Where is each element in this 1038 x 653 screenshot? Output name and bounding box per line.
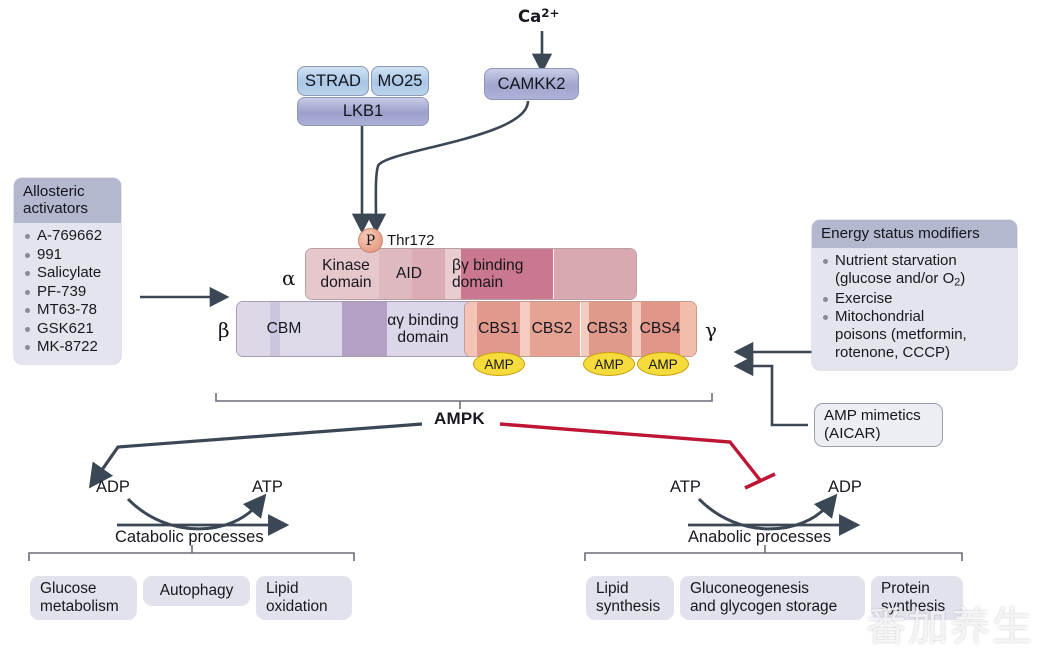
catabolic-caption: Catabolic processes (115, 528, 264, 547)
list-item[interactable]: MT63-78 (23, 301, 113, 319)
phospho-group-icon[interactable]: P (358, 228, 383, 253)
inhibit-bar-anabolic (745, 474, 775, 488)
allosteric-list: A-769662 991 Salicylate PF-739 MT63-78 G… (23, 227, 113, 356)
box-lipid-oxidation[interactable]: Lipid oxidation (256, 576, 352, 620)
arrow-ampk-inhibits-anabolic (500, 424, 760, 480)
bracket-anabolic-outputs (585, 553, 962, 561)
list-item[interactable]: Mitochondrial poisons (metformin, roteno… (821, 308, 1009, 362)
mo25-label: MO25 (378, 72, 423, 91)
list-item[interactable]: MK-8722 (23, 338, 113, 356)
anabolic-atp-label: ATP (670, 478, 701, 497)
panel-allosteric-body: A-769662 991 Salicylate PF-739 MT63-78 G… (14, 223, 121, 364)
panel-energy-status-modifiers[interactable]: Energy status modifiers Nutrient starvat… (812, 220, 1017, 370)
energy-list: Nutrient starvation (glucose and/or O2) … (821, 252, 1009, 362)
box-amp-mimetics[interactable]: AMP mimetics (AICAR) (814, 403, 943, 447)
calcium-charge: 2+ (541, 6, 559, 20)
list-item[interactable]: GSK621 (23, 320, 113, 338)
beta-subunit-label: β (218, 318, 230, 342)
alpha-subunit-label: α (282, 266, 296, 290)
box-protein-synthesis[interactable]: Protein synthesis (871, 576, 963, 620)
list-item[interactable]: A-769662 (23, 227, 113, 245)
box-gluconeogenesis[interactable]: Gluconeogenesis and glycogen storage (680, 576, 865, 620)
beta-domain-cbm-label: CBM (253, 305, 315, 353)
gamma-domain-cbs4-label: CBS4 (634, 305, 686, 353)
energy-item-1-line1: Exercise (835, 290, 893, 307)
amp-badge-cbs3[interactable]: AMP (583, 352, 635, 376)
amp-mimetics-line2: (AICAR) (824, 425, 921, 443)
strad-label: STRAD (305, 72, 361, 91)
gamma-subunit-label: γ (705, 318, 717, 342)
bracket-complex (216, 393, 712, 401)
beta-domain-agamma-label: αγ binding domain (371, 305, 475, 353)
energy-item-0-line2: (glucose and/or O (835, 270, 954, 287)
list-item[interactable]: Salicylate (23, 264, 113, 282)
curve-adp-to-atp (128, 499, 258, 529)
panel-energy-header: Energy status modifiers (812, 220, 1017, 248)
alpha-seg-ct (554, 249, 637, 299)
panel-allosteric-header: Allosteric activators (14, 178, 121, 223)
panel-energy-body: Nutrient starvation (glucose and/or O2) … (812, 248, 1017, 370)
diagram-canvas: Ca2+ STRAD MO25 LKB1 CAMKK2 Allosteric a… (0, 0, 1038, 653)
node-strad[interactable]: STRAD (297, 66, 369, 96)
arrow-ampk-to-catabolic (97, 424, 422, 477)
panel-allosteric-title-line2: activators (23, 200, 112, 217)
box-glucose-metabolism[interactable]: Glucose metabolism (30, 576, 137, 620)
energy-item-2-line2: poisons (metformin, (835, 326, 967, 343)
catabolic-atp-label: ATP (252, 478, 283, 497)
energy-item-0-line2-post: ) (960, 270, 965, 287)
panel-allosteric-activators[interactable]: Allosteric activators A-769662 991 Salic… (14, 178, 121, 364)
box-autophagy[interactable]: Autophagy (143, 576, 250, 606)
amp-mimetics-line1: AMP mimetics (824, 407, 921, 425)
arrow-ampmimetics-to-complex (745, 366, 808, 425)
list-item[interactable]: Exercise (821, 290, 1009, 308)
gamma-domain-cbs3-label: CBS3 (581, 305, 633, 353)
alpha-domain-bygamma-label: βγ binding domain (452, 252, 552, 296)
curve-atp-to-adp (699, 499, 829, 529)
bracket-catabolic-outputs (29, 553, 354, 561)
gamma-domain-cbs1-label: CBS1 (472, 305, 525, 353)
list-item[interactable]: Nutrient starvation (glucose and/or O2) (821, 252, 1009, 289)
alpha-domain-aid-label: AID (382, 252, 436, 296)
gamma-domain-cbs2-label: CBS2 (525, 305, 579, 353)
box-lipid-synthesis[interactable]: Lipid synthesis (586, 576, 674, 620)
energy-item-2-line1: Mitochondrial (835, 308, 924, 325)
node-mo25[interactable]: MO25 (371, 66, 429, 96)
panel-allosteric-title-line1: Allosteric (23, 183, 112, 200)
alpha-domain-kinase-label: Kinase domain (310, 252, 382, 296)
amp-badge-cbs1[interactable]: AMP (473, 352, 525, 376)
calcium-text: Ca (518, 7, 541, 26)
node-camkk2[interactable]: CAMKK2 (484, 68, 579, 100)
panel-energy-title: Energy status modifiers (821, 225, 980, 242)
lkb1-label: LKB1 (343, 102, 383, 121)
anabolic-adp-label: ADP (828, 478, 862, 497)
calcium-label: Ca2+ (518, 6, 559, 26)
ampk-label: AMPK (434, 409, 485, 429)
node-lkb1[interactable]: LKB1 (297, 97, 429, 126)
camkk2-label: CAMKK2 (498, 75, 566, 94)
amp-badge-cbs4[interactable]: AMP (637, 352, 689, 376)
thr172-label: Thr172 (387, 232, 435, 249)
energy-item-2-line3: rotenone, CCCP) (835, 344, 950, 361)
list-item[interactable]: PF-739 (23, 283, 113, 301)
list-item[interactable]: 991 (23, 246, 113, 264)
catabolic-adp-label: ADP (96, 478, 130, 497)
anabolic-caption: Anabolic processes (688, 528, 831, 547)
energy-item-0-line1: Nutrient starvation (835, 252, 957, 269)
